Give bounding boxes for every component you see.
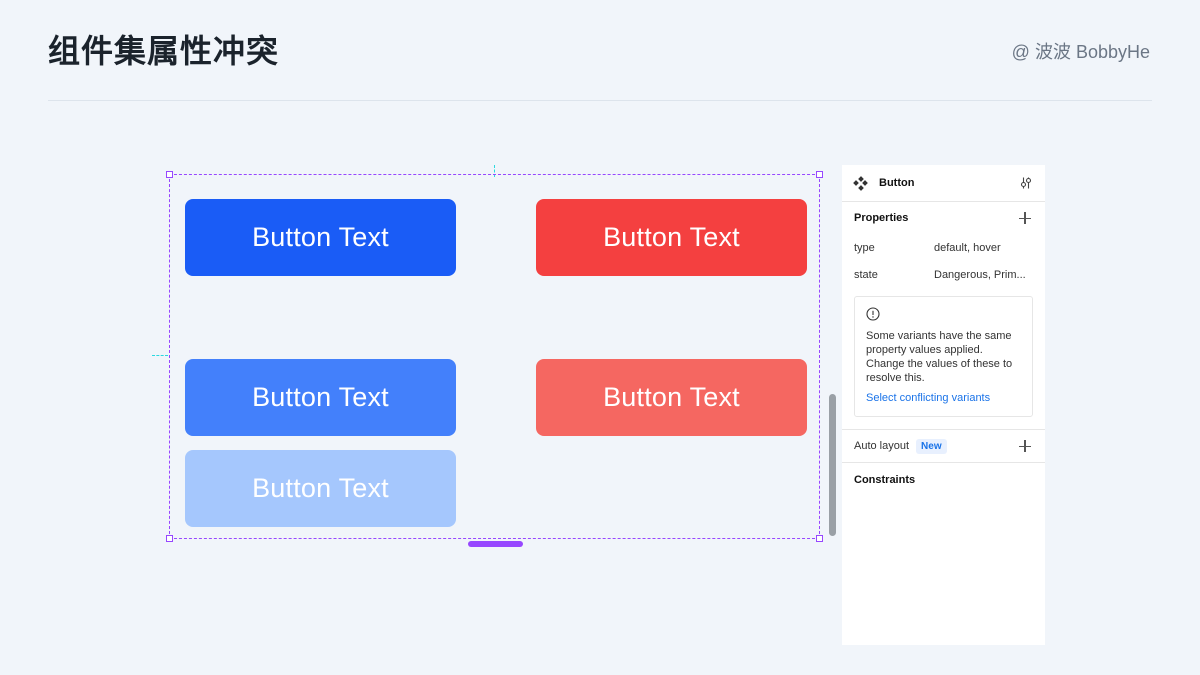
property-key: type <box>854 242 934 254</box>
resize-handle-bottom-right[interactable] <box>816 535 823 542</box>
node-name-label: Button <box>879 177 1019 189</box>
component-set-icon <box>854 177 867 190</box>
property-key: state <box>854 269 934 281</box>
property-value[interactable]: default, hover <box>934 242 1033 254</box>
property-row-type[interactable]: type default, hover <box>842 234 1045 261</box>
constraints-label: Constraints <box>854 474 915 486</box>
variant-button-default-primary[interactable]: Button Text <box>185 199 456 276</box>
resize-handle-top-right[interactable] <box>816 171 823 178</box>
button-label: Button Text <box>252 222 389 253</box>
variant-button-hover-dangerous[interactable]: Button Text <box>536 359 807 436</box>
conflict-message-text: Some variants have the same property val… <box>866 329 1021 385</box>
tune-sliders-icon[interactable] <box>1019 176 1033 190</box>
page-title: 组件集属性冲突 <box>48 26 279 72</box>
property-row-state[interactable]: state Dangerous, Prim... <box>842 261 1045 288</box>
auto-layout-label: Auto layout <box>854 440 909 452</box>
add-property-plus-icon[interactable] <box>1017 210 1033 226</box>
panel-node-row[interactable]: Button <box>842 165 1045 202</box>
panel-scrollbar[interactable] <box>829 394 836 536</box>
button-label: Button Text <box>603 382 740 413</box>
author-credit: @ 波波 BobbyHe <box>1012 38 1150 64</box>
resize-handle-top-left[interactable] <box>166 171 173 178</box>
property-value[interactable]: Dangerous, Prim... <box>934 269 1033 281</box>
variant-button-disabled-primary[interactable]: Button Text <box>185 450 456 527</box>
add-auto-layout-plus-icon[interactable] <box>1017 438 1033 454</box>
properties-title: Properties <box>854 212 1017 224</box>
variant-button-hover-primary[interactable]: Button Text <box>185 359 456 436</box>
warning-circle-icon <box>866 307 880 321</box>
select-conflicting-variants-link[interactable]: Select conflicting variants <box>866 392 990 404</box>
properties-panel[interactable]: Button Properties type default, hover st… <box>842 165 1045 645</box>
button-label: Button Text <box>252 382 389 413</box>
button-label: Button Text <box>603 222 740 253</box>
constraints-section-header: Constraints <box>842 463 1045 497</box>
auto-layout-indicator-bar[interactable] <box>468 541 523 547</box>
variant-button-default-dangerous[interactable]: Button Text <box>536 199 807 276</box>
smart-guide-left <box>152 355 168 356</box>
page-header: 组件集属性冲突 @ 波波 BobbyHe <box>0 0 1200 101</box>
conflict-warning-box: Some variants have the same property val… <box>854 296 1033 417</box>
button-label: Button Text <box>252 473 389 504</box>
properties-section-header: Properties <box>842 202 1045 234</box>
auto-layout-section-header: Auto layout New <box>842 429 1045 463</box>
new-badge: New <box>916 439 947 454</box>
resize-handle-bottom-left[interactable] <box>166 535 173 542</box>
figma-canvas[interactable]: Button Text Button Text Button Text Butt… <box>0 101 1200 675</box>
component-set-selection-frame[interactable]: Button Text Button Text Button Text Butt… <box>169 174 820 539</box>
